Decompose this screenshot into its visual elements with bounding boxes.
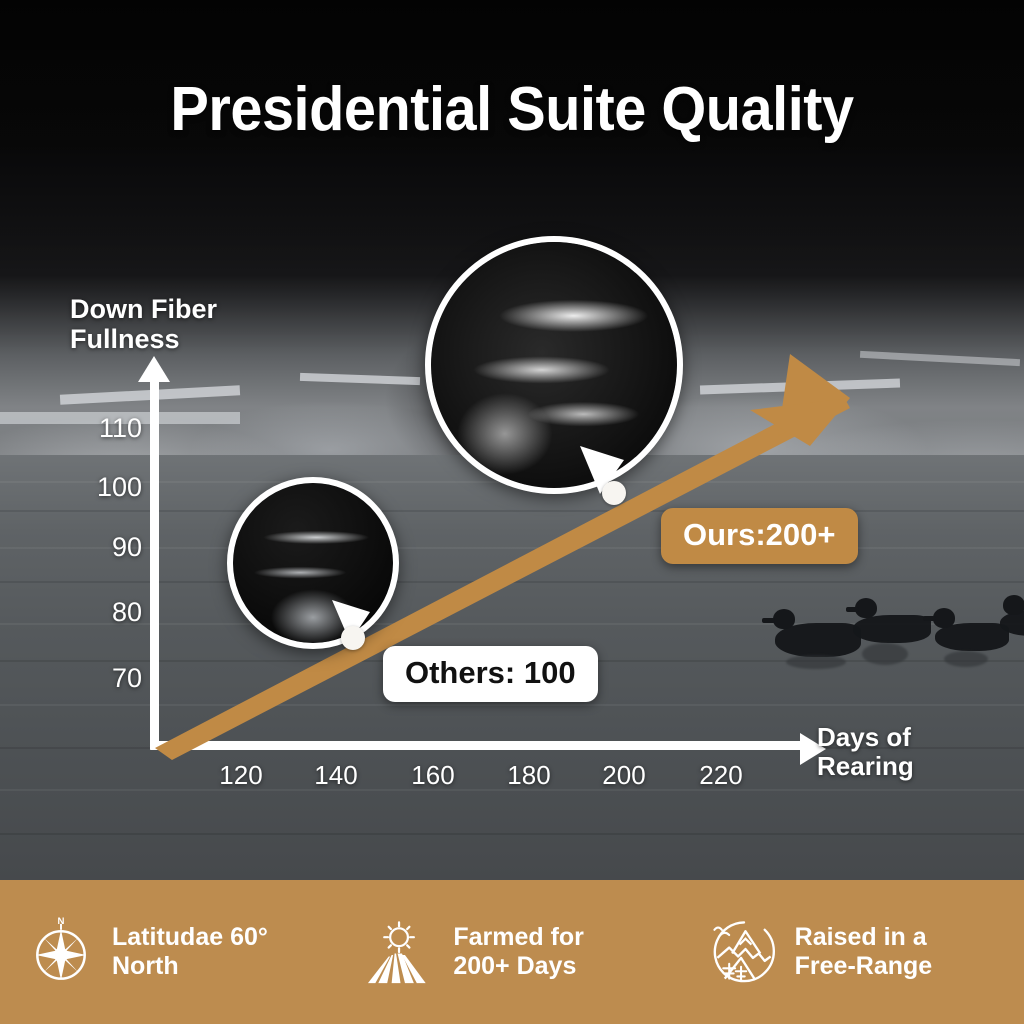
feature-line1: Latitudae 60° <box>112 923 268 952</box>
mountain-circle-icon <box>707 915 781 989</box>
y-axis-title: Down Fiber Fullness <box>70 294 217 354</box>
y-axis-title-line1: Down Fiber <box>70 294 217 324</box>
y-tick-label: 70 <box>112 663 142 694</box>
x-tick-label: 140 <box>296 760 376 791</box>
feature-text-free-range: Raised in a Free-Range <box>795 923 933 981</box>
x-tick-label: 220 <box>681 760 761 791</box>
x-tick-label: 160 <box>393 760 473 791</box>
x-tick-label: 180 <box>489 760 569 791</box>
fullness-vs-days-chart: Down Fiber Fullness Days of Rearing 110 … <box>0 0 1024 880</box>
feature-bar: N Latitudae 60° North <box>0 880 1024 1024</box>
data-point-others[interactable] <box>341 626 365 650</box>
sun-over-field-icon <box>365 915 439 989</box>
others-label[interactable]: Others: 100 <box>383 646 598 702</box>
feature-line2: 200+ Days <box>453 952 584 981</box>
feature-line1: Farmed for <box>453 923 584 952</box>
feature-item-farmed[interactable]: Farmed for 200+ Days <box>341 915 682 989</box>
feature-text-farmed: Farmed for 200+ Days <box>453 923 584 981</box>
y-tick-label: 110 <box>99 413 142 444</box>
x-tick-label: 120 <box>201 760 281 791</box>
y-tick-label: 80 <box>112 597 142 628</box>
feature-line2: North <box>112 952 268 981</box>
down-fiber-dense-image <box>431 242 677 488</box>
data-point-ours[interactable] <box>602 481 626 505</box>
feature-item-latitude[interactable]: N Latitudae 60° North <box>0 915 341 989</box>
feature-line2: Free-Range <box>795 952 933 981</box>
y-tick-label: 90 <box>112 532 142 563</box>
y-tick-label: 100 <box>97 472 142 503</box>
compass-rose-icon: N <box>24 915 98 989</box>
ours-label[interactable]: Ours:200+ <box>661 508 858 564</box>
feature-line1: Raised in a <box>795 923 933 952</box>
x-tick-label: 200 <box>584 760 664 791</box>
product-infographic: Presidential Suite Quality Down Fiber Fu… <box>0 0 1024 1024</box>
feature-item-free-range[interactable]: Raised in a Free-Range <box>683 915 1024 989</box>
magnifier-high-bubble <box>425 236 683 494</box>
svg-text:N: N <box>58 916 65 927</box>
feature-text-latitude: Latitudae 60° North <box>112 923 268 981</box>
